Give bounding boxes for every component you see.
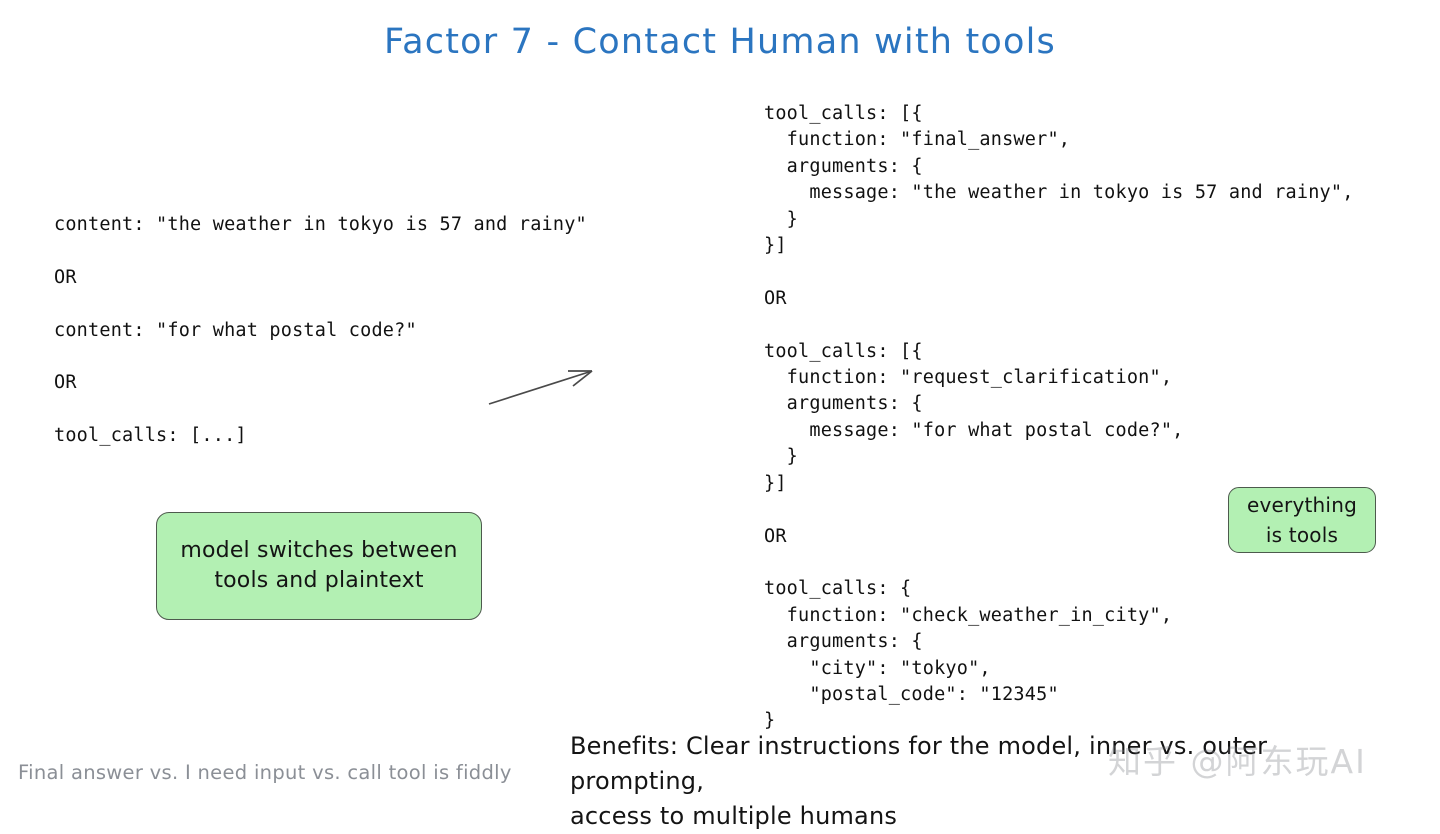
page-title: Factor 7 - Contact Human with tools (0, 22, 1440, 62)
benefits-note: Benefits: Clear instructions for the mod… (570, 729, 1270, 834)
arrow-icon (480, 358, 610, 418)
right-code-column: tool_calls: [{ function: "final_answer",… (764, 101, 1354, 735)
callout-everything-is-tools: everything is tools (1228, 487, 1376, 553)
callout-model-switches: model switches between tools and plainte… (156, 512, 482, 620)
footnote: Final answer vs. I need input vs. call t… (18, 761, 512, 784)
